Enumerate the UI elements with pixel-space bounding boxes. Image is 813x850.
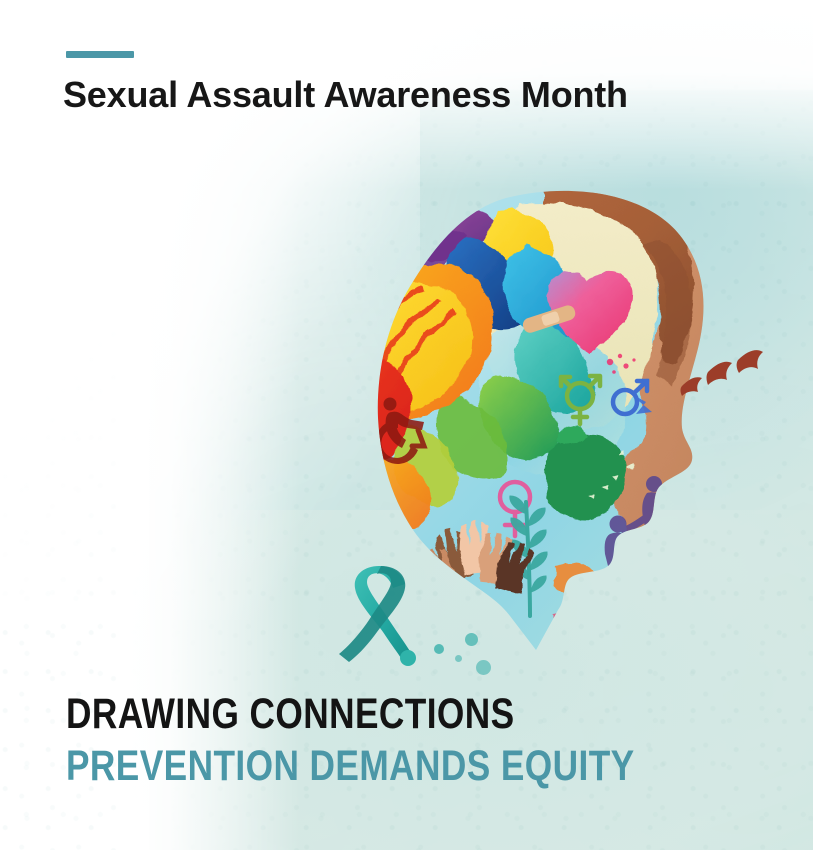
bubble-dot-4 [476,660,491,675]
bubble-dot-1 [434,644,444,654]
accent-bar [66,51,134,58]
footer-subhead: PREVENTION DEMANDS EQUITY [66,740,635,792]
ribbon-bead [400,650,416,666]
bubble-dot-3 [465,633,478,646]
footer-headline: DRAWING CONNECTIONS [66,688,635,740]
bubble-dot-2 [455,655,462,662]
teal-awareness-ribbon [335,560,425,670]
footer-text-block: DRAWING CONNECTIONS PREVENTION DEMANDS E… [66,688,759,792]
page-title: Sexual Assault Awareness Month [63,74,628,116]
poster-canvas: Sexual Assault Awareness Month [0,0,813,850]
